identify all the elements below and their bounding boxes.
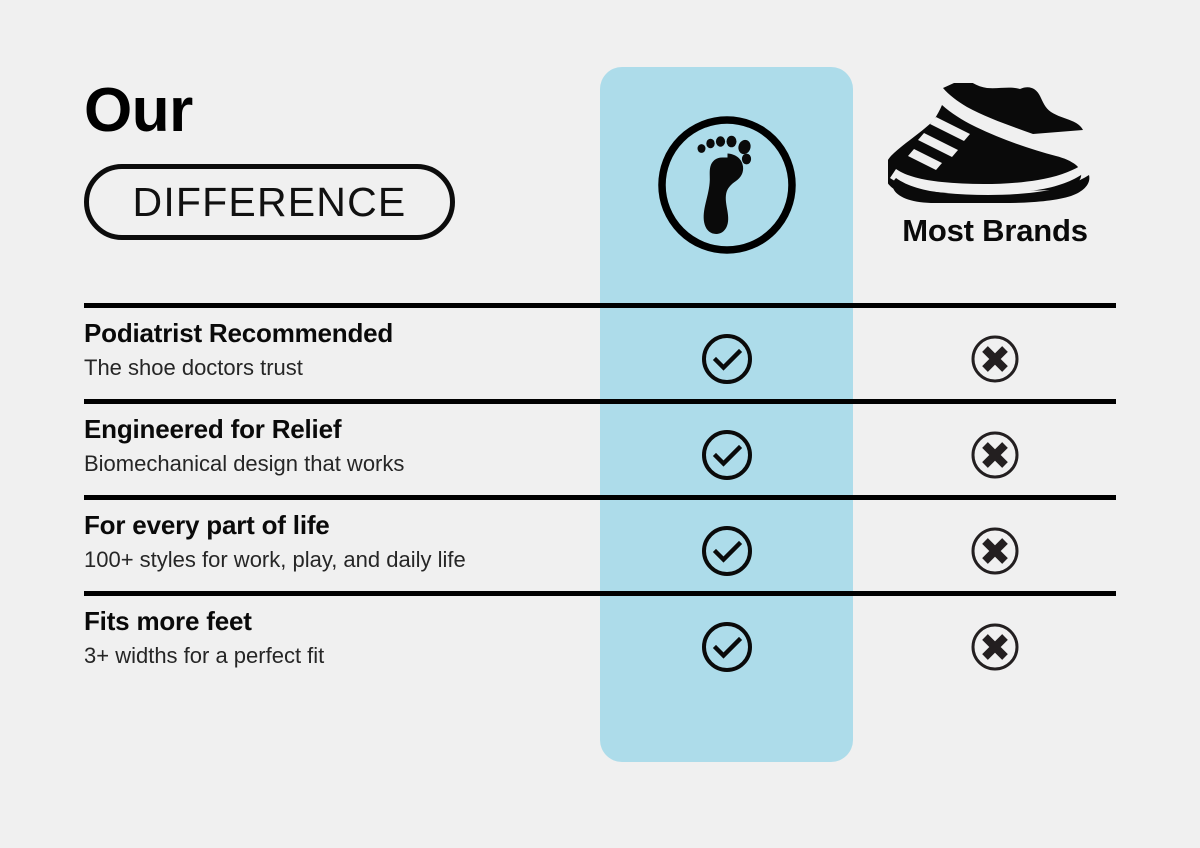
row-title: Fits more feet xyxy=(84,605,584,638)
check-circle-icon xyxy=(701,621,753,673)
page-title: Our DIFFERENCE xyxy=(84,80,455,240)
brands-column-header: Most Brands xyxy=(870,67,1120,303)
row-label-group: Engineered for Relief Biomechanical desi… xyxy=(84,413,584,477)
row-title: For every part of life xyxy=(84,509,584,542)
our-cell-check xyxy=(699,619,755,675)
table-row: Fits more feet 3+ widths for a perfect f… xyxy=(0,591,1200,687)
brands-column-label: Most Brands xyxy=(902,213,1088,249)
check-circle-icon xyxy=(701,429,753,481)
table-row: For every part of life 100+ styles for w… xyxy=(0,495,1200,591)
cross-circle-icon xyxy=(969,333,1021,385)
sneaker-icon-wrap xyxy=(888,80,1103,205)
row-label-group: Podiatrist Recommended The shoe doctors … xyxy=(84,317,584,381)
brands-cell-cross xyxy=(967,427,1023,483)
page-title-line-1: Our xyxy=(84,80,455,142)
check-circle-icon xyxy=(701,525,753,577)
cross-circle-icon xyxy=(969,525,1021,577)
brands-cell-cross xyxy=(967,331,1023,387)
row-label-group: For every part of life 100+ styles for w… xyxy=(84,509,584,573)
table-row: Podiatrist Recommended The shoe doctors … xyxy=(0,303,1200,399)
brands-cell-cross xyxy=(967,619,1023,675)
our-cell-check xyxy=(699,331,755,387)
brands-cell-cross xyxy=(967,523,1023,579)
row-subtitle: 100+ styles for work, play, and daily li… xyxy=(84,546,584,574)
our-cell-check xyxy=(699,523,755,579)
cross-circle-icon xyxy=(969,621,1021,673)
row-subtitle: The shoe doctors trust xyxy=(84,354,584,382)
our-cell-check xyxy=(699,427,755,483)
footprint-in-circle-icon xyxy=(652,110,802,260)
row-subtitle: Biomechanical design that works xyxy=(84,450,584,478)
row-subtitle: 3+ widths for a perfect fit xyxy=(84,642,584,670)
our-column-header xyxy=(600,67,853,303)
difference-pill: DIFFERENCE xyxy=(84,164,455,240)
row-label-group: Fits more feet 3+ widths for a perfect f… xyxy=(84,605,584,669)
check-circle-icon xyxy=(701,333,753,385)
cross-circle-icon xyxy=(969,429,1021,481)
table-row: Engineered for Relief Biomechanical desi… xyxy=(0,399,1200,495)
sneaker-icon xyxy=(888,83,1103,203)
row-title: Podiatrist Recommended xyxy=(84,317,584,350)
row-title: Engineered for Relief xyxy=(84,413,584,446)
comparison-infographic: Our DIFFERENCE xyxy=(0,0,1200,848)
page-title-line-2: DIFFERENCE xyxy=(133,179,407,226)
